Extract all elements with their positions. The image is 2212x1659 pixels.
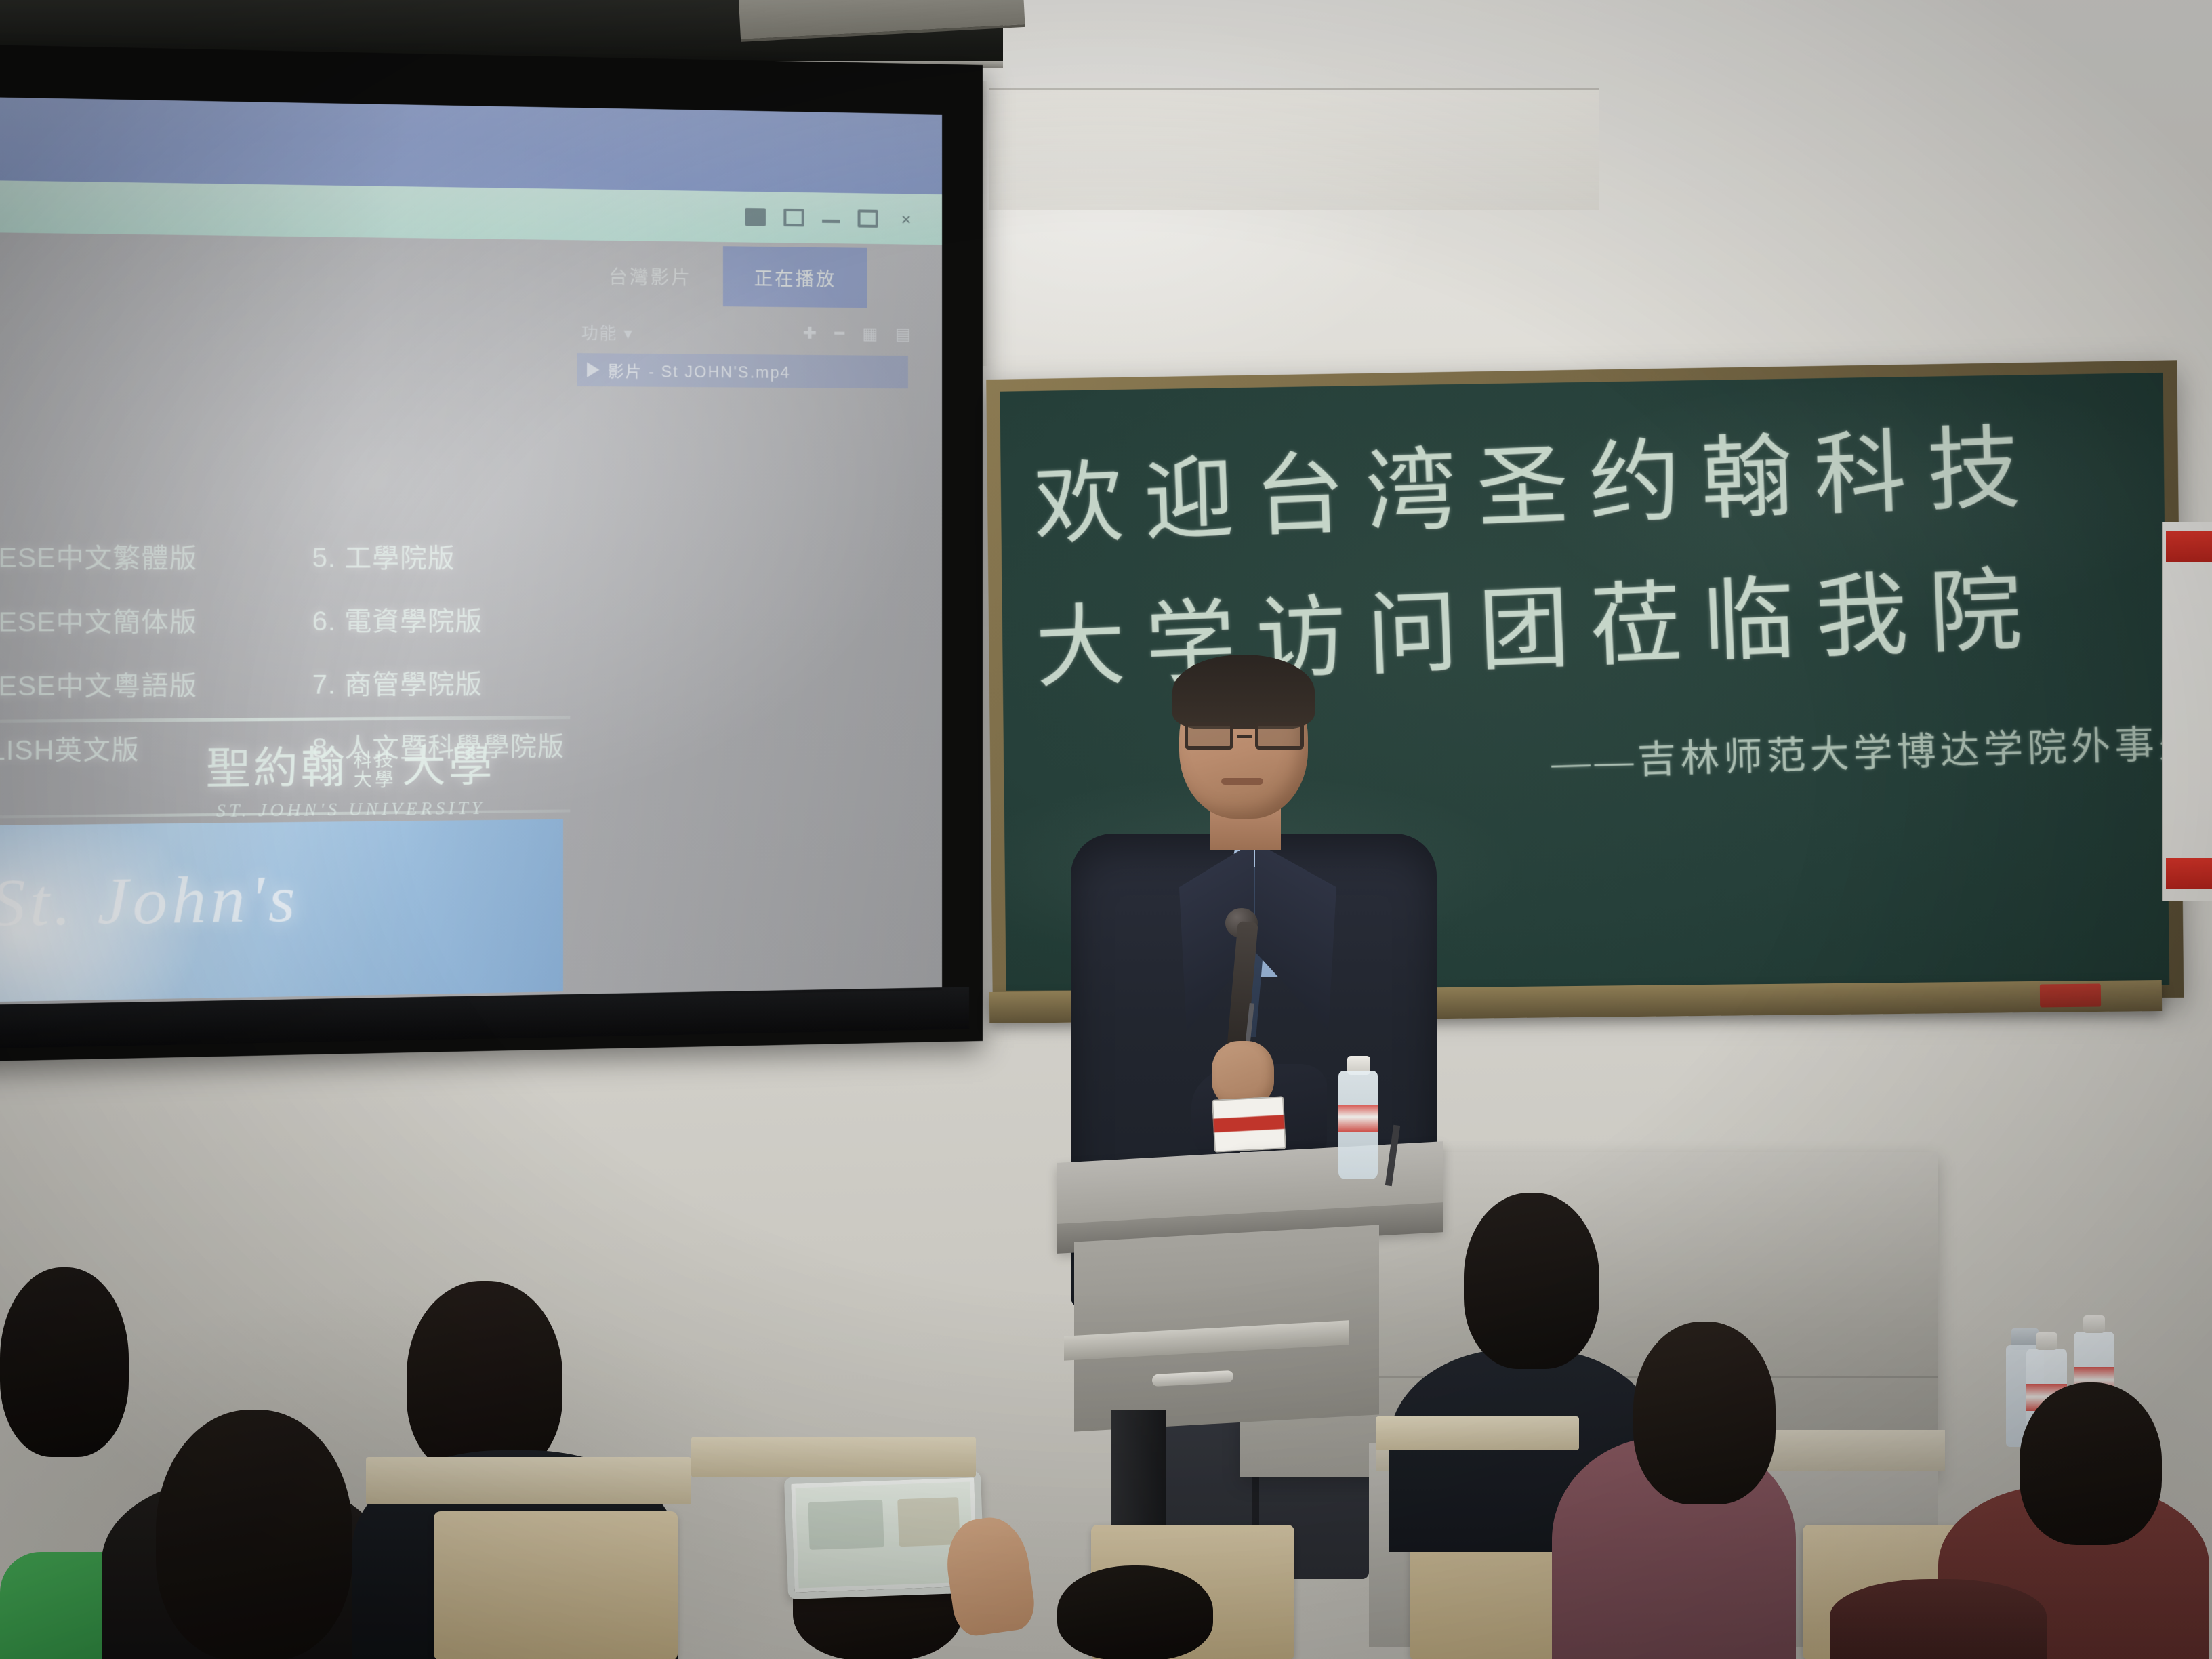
projected-tabbar: 台灣影片 正在播放	[577, 244, 867, 308]
projection-screen-frame: × 台灣影片 正在播放 功能 ▾ ✚ ━ ▦ ▤	[0, 44, 983, 1062]
audience-head	[1057, 1565, 1213, 1659]
remove-icon[interactable]: ━	[834, 323, 844, 343]
projected-menu-button[interactable]: 功能 ▾	[581, 319, 634, 344]
slide-hero-banner: St. John's	[0, 819, 563, 1004]
add-icon[interactable]: ✚	[803, 323, 817, 343]
poster-red-band	[2166, 858, 2212, 889]
audience-head	[2020, 1382, 2162, 1545]
list-item[interactable]: 5. 工學院版	[312, 536, 565, 575]
hero-watermark: St. John's	[0, 860, 300, 942]
speaker-hair	[1172, 655, 1315, 729]
desk	[1376, 1416, 1579, 1450]
list-item[interactable]: CHINESE中文粵語版	[0, 663, 197, 703]
projection-screen-surface: × 台灣影片 正在播放 功能 ▾ ✚ ━ ▦ ▤	[0, 96, 942, 1008]
audience-head	[407, 1281, 562, 1477]
list-item[interactable]: CHINESE中文繁體版	[0, 536, 197, 575]
close-icon[interactable]: ×	[896, 210, 916, 228]
wall-poster	[2162, 522, 2212, 901]
university-logo: 聖約翰 科技 大學 大學 ST. JOHN'S UNIVERSITY	[165, 731, 535, 822]
maximize-icon[interactable]	[858, 209, 878, 228]
glasses-icon	[1185, 721, 1304, 751]
audience-head	[1633, 1322, 1776, 1504]
play-icon	[587, 362, 600, 377]
audience-head	[156, 1410, 352, 1659]
tablet-ui-panel	[808, 1500, 884, 1550]
tab-taiwan-video[interactable]: 台灣影片	[577, 244, 723, 306]
university-logo-chinese: 聖約翰 科技 大學 大學	[165, 731, 535, 797]
list-item[interactable]: CHINESE中文簡体版	[0, 600, 197, 639]
projected-toolbar-icons: ✚ ━ ▦ ▤	[803, 323, 911, 344]
audience-head	[0, 1267, 129, 1457]
name-badge	[1212, 1096, 1286, 1152]
list-item[interactable]: 6. 電資學院版	[312, 599, 565, 638]
speaker-hand	[1212, 1041, 1274, 1106]
blackboard-eraser	[2040, 984, 2101, 1008]
list-item[interactable]: 7. 商管學院版	[312, 662, 565, 701]
bottle-cap	[2036, 1332, 2057, 1350]
glasses-bridge	[1237, 735, 1252, 738]
now-playing-label: 影片 - St JOHN'S.mp4	[608, 359, 791, 383]
restore-icon[interactable]	[745, 208, 765, 226]
minimize-icon[interactable]	[822, 213, 840, 223]
glasses-lens-right	[1255, 722, 1304, 750]
audience-shoulders	[1830, 1579, 2047, 1659]
speaker-mouth	[1221, 778, 1263, 785]
now-playing-row[interactable]: 影片 - St JOHN'S.mp4	[577, 353, 908, 388]
projected-window-topband	[0, 96, 942, 194]
bottle-label	[1338, 1105, 1378, 1132]
tablet-screen	[795, 1482, 973, 1589]
desk	[691, 1437, 976, 1477]
list-icon[interactable]: ▤	[895, 324, 911, 344]
logo-small-bottom: 大學	[354, 769, 396, 790]
logo-main-left: 聖約翰	[206, 733, 348, 796]
desk	[366, 1457, 691, 1504]
tab-now-playing[interactable]: 正在播放	[723, 246, 867, 308]
chair-back	[434, 1511, 678, 1659]
poster-red-band	[2166, 531, 2212, 562]
bottle-cap	[2083, 1315, 2105, 1333]
logo-small-top: 科技	[354, 750, 396, 771]
projected-window-body: 台灣影片 正在播放 功能 ▾ ✚ ━ ▦ ▤ 影片 - St JOHN'S.mp…	[0, 232, 942, 1008]
audience-head	[1464, 1193, 1599, 1369]
glasses-lens-left	[1185, 722, 1233, 750]
logo-main-right: 大學	[402, 731, 495, 794]
classroom-photo-scene: × 台灣影片 正在播放 功能 ▾ ✚ ━ ▦ ▤	[0, 0, 2212, 1659]
grid-icon[interactable]: ▦	[862, 324, 878, 344]
tablet-ui-panel	[897, 1497, 960, 1547]
window-icon[interactable]	[783, 209, 804, 227]
projected-toolbar: 功能 ▾ ✚ ━ ▦ ▤	[577, 312, 922, 353]
logo-small-stack: 科技 大學	[354, 751, 396, 790]
wall-patch	[989, 88, 1599, 210]
